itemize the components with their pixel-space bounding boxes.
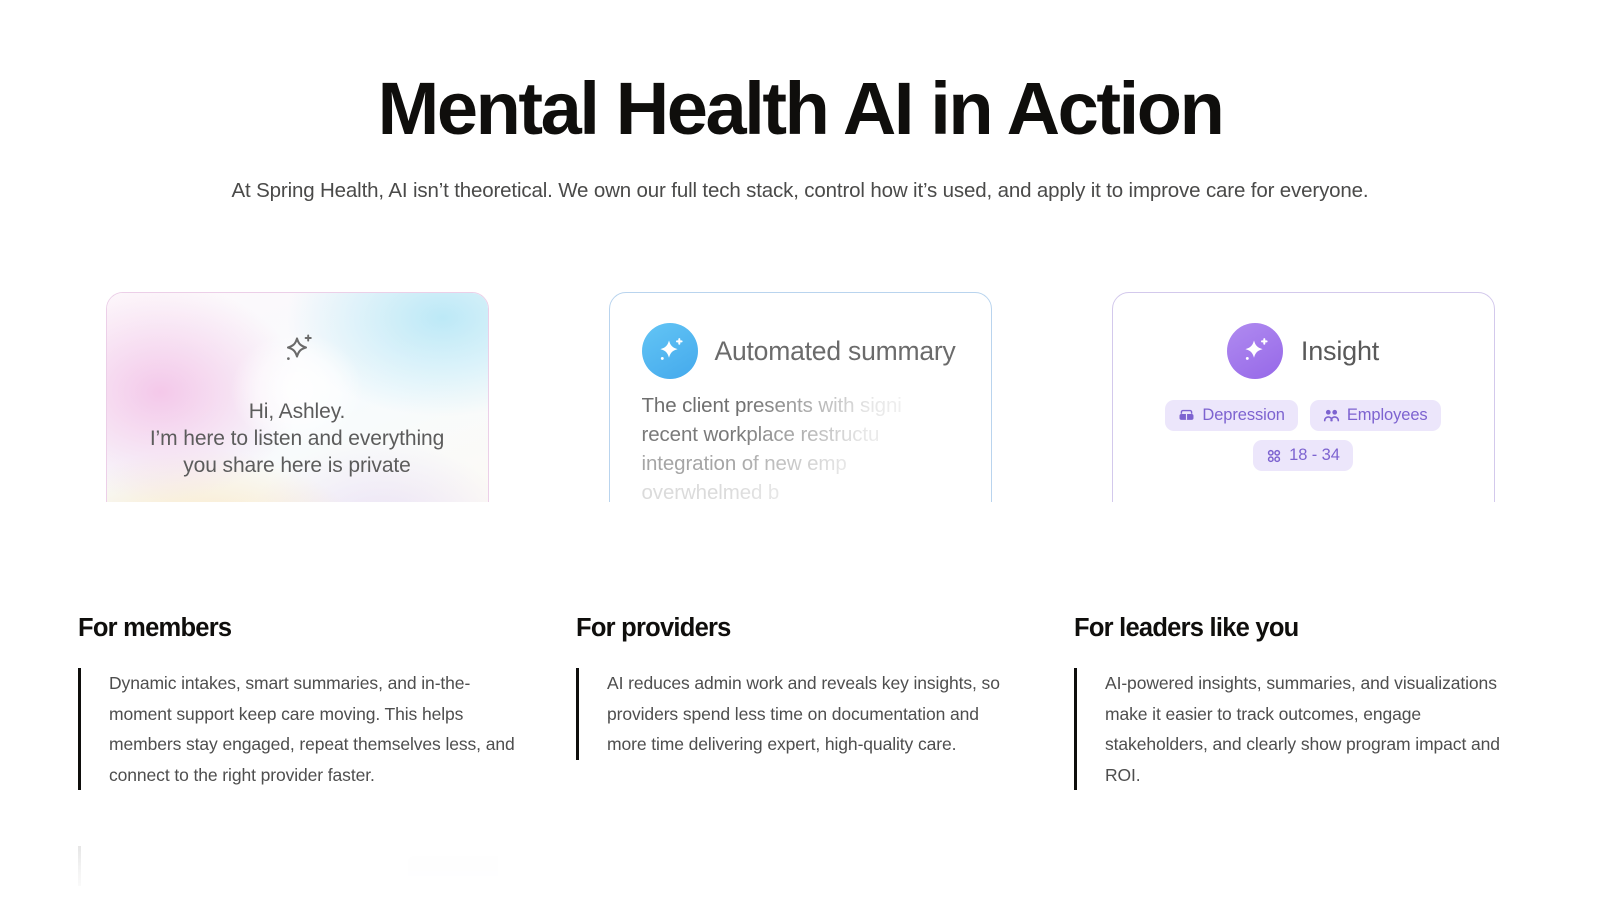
audience-body: AI-powered insights, summaries, and visu… [1074, 668, 1526, 790]
insight-chip-list: Depression Employees [1113, 400, 1494, 471]
audience-column-members: For members Dynamic intakes, smart summa… [78, 612, 576, 790]
summary-line-1: The client presents with signi [642, 391, 991, 420]
chip-label: Depression [1202, 406, 1284, 425]
next-section-peek [78, 846, 498, 900]
insight-header: Insight [1113, 323, 1494, 379]
page-header: Mental Health AI in Action At Spring Hea… [0, 0, 1600, 206]
summary-body: The client presents with signi recent wo… [642, 391, 991, 502]
audience-body: Dynamic intakes, smart summaries, and in… [78, 668, 518, 790]
card-automated-summary[interactable]: Automated summary The client presents wi… [609, 292, 992, 502]
feature-cards-row: Hi, Ashley. I’m here to listen and every… [0, 292, 1600, 502]
audience-title: For providers [576, 612, 1074, 644]
sparkle-icon [642, 323, 698, 379]
page-subtitle: At Spring Health, AI isn’t theoretical. … [0, 176, 1600, 206]
summary-line-2: recent workplace restructu [642, 420, 991, 449]
sparkle-icon [275, 360, 319, 377]
member-greeting: Hi, Ashley. I’m here to listen and every… [107, 398, 488, 479]
accent-bar [78, 846, 81, 886]
card-insight[interactable]: Insight Depression [1112, 292, 1495, 502]
people-icon [1323, 407, 1340, 424]
chip-age-range[interactable]: 18 - 34 [1253, 440, 1353, 471]
audience-column-leaders: For leaders like you AI-powered insights… [1074, 612, 1548, 790]
summary-header: Automated summary [642, 323, 991, 379]
placeholder-block [408, 856, 498, 896]
summary-line-3: integration of new emp [642, 449, 991, 478]
chip-label: 18 - 34 [1289, 446, 1340, 465]
audience-body: AI reduces admin work and reveals key in… [576, 668, 1006, 760]
page-root: Mental Health AI in Action At Spring Hea… [0, 0, 1600, 900]
audience-columns: For members Dynamic intakes, smart summa… [78, 612, 1548, 790]
greeting-line-3: you share here is private [107, 452, 488, 479]
chip-employees[interactable]: Employees [1310, 400, 1441, 431]
insight-title: Insight [1301, 334, 1379, 368]
audience-title: For members [78, 612, 576, 644]
card-member-chat[interactable]: Hi, Ashley. I’m here to listen and every… [106, 292, 489, 502]
page-title: Mental Health AI in Action [0, 66, 1600, 152]
chip-label: Employees [1347, 406, 1428, 425]
greeting-line-2: I’m here to listen and everything [107, 425, 488, 452]
chip-depression[interactable]: Depression [1165, 400, 1297, 431]
grid-icon [1266, 448, 1282, 464]
audience-title: For leaders like you [1074, 612, 1548, 644]
summary-line-4: overwhelmed b [642, 478, 991, 502]
audience-column-providers: For providers AI reduces admin work and … [576, 612, 1074, 790]
couch-icon [1178, 407, 1195, 424]
sparkle-icon [1227, 323, 1283, 379]
summary-title: Automated summary [715, 334, 956, 368]
greeting-line-1: Hi, Ashley. [107, 398, 488, 425]
